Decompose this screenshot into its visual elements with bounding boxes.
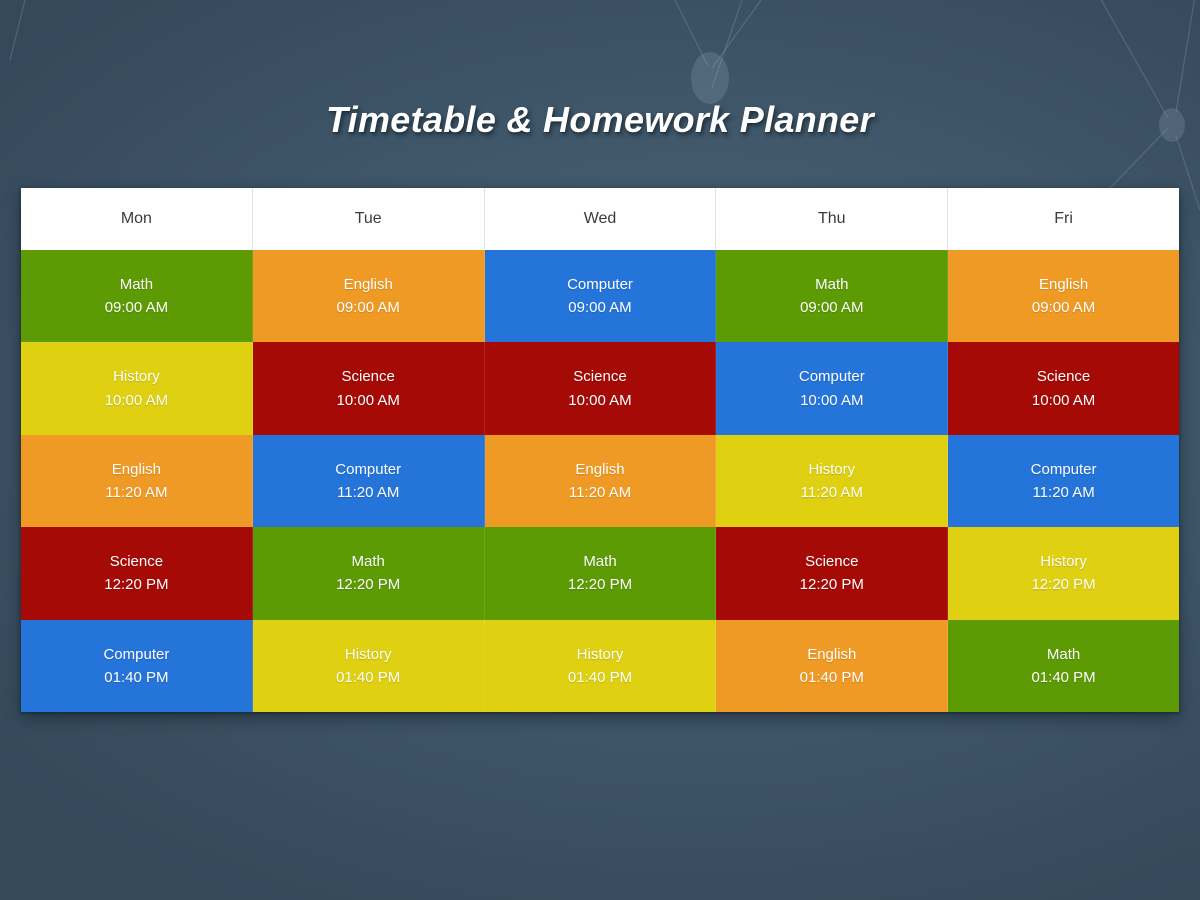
class-subject: Computer — [567, 274, 633, 295]
timetable-row: Math 09:00 AM English 09:00 AM Computer … — [21, 250, 1179, 342]
class-time: 12:20 PM — [1031, 574, 1095, 595]
class-time: 12:20 PM — [568, 574, 632, 595]
timetable-row: Computer 01:40 PM History 01:40 PM Histo… — [21, 620, 1179, 712]
class-subject: Math — [815, 274, 848, 295]
column-header-tue[interactable]: Tue — [253, 188, 485, 250]
class-cell[interactable]: Math 09:00 AM — [716, 250, 948, 342]
class-subject: Science — [1037, 366, 1090, 387]
timetable-row: History 10:00 AM Science 10:00 AM Scienc… — [21, 342, 1179, 434]
class-time: 01:40 PM — [800, 667, 864, 688]
class-subject: History — [808, 459, 855, 480]
class-cell[interactable]: Math 09:00 AM — [21, 250, 253, 342]
class-time: 12:20 PM — [800, 574, 864, 595]
class-subject: Computer — [799, 366, 865, 387]
class-cell[interactable]: English 01:40 PM — [716, 620, 948, 712]
class-time: 12:20 PM — [104, 574, 168, 595]
class-cell[interactable]: Science 12:20 PM — [21, 527, 253, 619]
class-subject: Science — [342, 366, 395, 387]
class-time: 10:00 AM — [105, 390, 168, 411]
class-subject: Computer — [103, 644, 169, 665]
class-time: 01:40 PM — [568, 667, 632, 688]
class-subject: English — [575, 459, 624, 480]
timetable-body: Math 09:00 AM English 09:00 AM Computer … — [21, 250, 1179, 712]
class-cell[interactable]: English 11:20 AM — [485, 435, 717, 527]
timetable-header-row: Mon Tue Wed Thu Fri — [21, 188, 1179, 250]
class-time: 09:00 AM — [105, 297, 168, 318]
timetable-row: Science 12:20 PM Math 12:20 PM Math 12:2… — [21, 527, 1179, 619]
class-time: 11:20 AM — [337, 482, 399, 503]
class-cell[interactable]: Computer 11:20 AM — [253, 435, 485, 527]
class-cell[interactable]: Computer 09:00 AM — [485, 250, 717, 342]
column-header-fri[interactable]: Fri — [948, 188, 1179, 250]
column-header-wed[interactable]: Wed — [485, 188, 717, 250]
timetable: Mon Tue Wed Thu Fri Math 09:00 AM Englis… — [21, 188, 1179, 712]
class-cell[interactable]: History 01:40 PM — [485, 620, 717, 712]
class-cell[interactable]: Computer 11:20 AM — [948, 435, 1179, 527]
class-cell[interactable]: History 12:20 PM — [948, 527, 1179, 619]
class-cell[interactable]: Science 12:20 PM — [716, 527, 948, 619]
class-subject: History — [345, 644, 392, 665]
class-cell[interactable]: Computer 10:00 AM — [716, 342, 948, 434]
class-time: 01:40 PM — [1031, 667, 1095, 688]
class-time: 01:40 PM — [104, 667, 168, 688]
class-subject: English — [807, 644, 856, 665]
page-title: Timetable & Homework Planner — [0, 99, 1200, 141]
class-subject: Math — [120, 274, 153, 295]
class-subject: Math — [583, 551, 616, 572]
class-cell[interactable]: Computer 01:40 PM — [21, 620, 253, 712]
class-subject: Science — [110, 551, 163, 572]
column-header-mon[interactable]: Mon — [21, 188, 253, 250]
class-cell[interactable]: Science 10:00 AM — [253, 342, 485, 434]
class-subject: Math — [352, 551, 385, 572]
class-subject: Computer — [335, 459, 401, 480]
class-time: 09:00 AM — [1032, 297, 1095, 318]
class-cell[interactable]: Math 01:40 PM — [948, 620, 1179, 712]
class-time: 10:00 AM — [800, 390, 863, 411]
class-time: 10:00 AM — [568, 390, 631, 411]
class-cell[interactable]: History 11:20 AM — [716, 435, 948, 527]
class-time: 11:20 AM — [1032, 482, 1094, 503]
class-time: 10:00 AM — [1032, 390, 1095, 411]
class-subject: History — [577, 644, 624, 665]
class-time: 11:20 AM — [801, 482, 863, 503]
class-subject: Math — [1047, 644, 1080, 665]
class-cell[interactable]: Science 10:00 AM — [485, 342, 717, 434]
class-time: 09:00 AM — [800, 297, 863, 318]
class-subject: Computer — [1031, 459, 1097, 480]
class-cell[interactable]: Science 10:00 AM — [948, 342, 1179, 434]
class-time: 11:20 AM — [105, 482, 167, 503]
class-time: 11:20 AM — [569, 482, 631, 503]
column-header-thu[interactable]: Thu — [716, 188, 948, 250]
class-cell[interactable]: English 11:20 AM — [21, 435, 253, 527]
class-time: 09:00 AM — [337, 297, 400, 318]
class-subject: Science — [573, 366, 626, 387]
class-subject: English — [112, 459, 161, 480]
class-time: 09:00 AM — [568, 297, 631, 318]
class-cell[interactable]: Math 12:20 PM — [485, 527, 717, 619]
timetable-row: English 11:20 AM Computer 11:20 AM Engli… — [21, 435, 1179, 527]
class-cell[interactable]: English 09:00 AM — [253, 250, 485, 342]
class-cell[interactable]: Math 12:20 PM — [253, 527, 485, 619]
class-cell[interactable]: English 09:00 AM — [948, 250, 1179, 342]
class-cell[interactable]: History 10:00 AM — [21, 342, 253, 434]
class-time: 10:00 AM — [337, 390, 400, 411]
class-subject: English — [344, 274, 393, 295]
class-time: 01:40 PM — [336, 667, 400, 688]
class-time: 12:20 PM — [336, 574, 400, 595]
class-subject: Science — [805, 551, 858, 572]
class-subject: History — [113, 366, 160, 387]
class-subject: English — [1039, 274, 1088, 295]
class-cell[interactable]: History 01:40 PM — [253, 620, 485, 712]
class-subject: History — [1040, 551, 1087, 572]
